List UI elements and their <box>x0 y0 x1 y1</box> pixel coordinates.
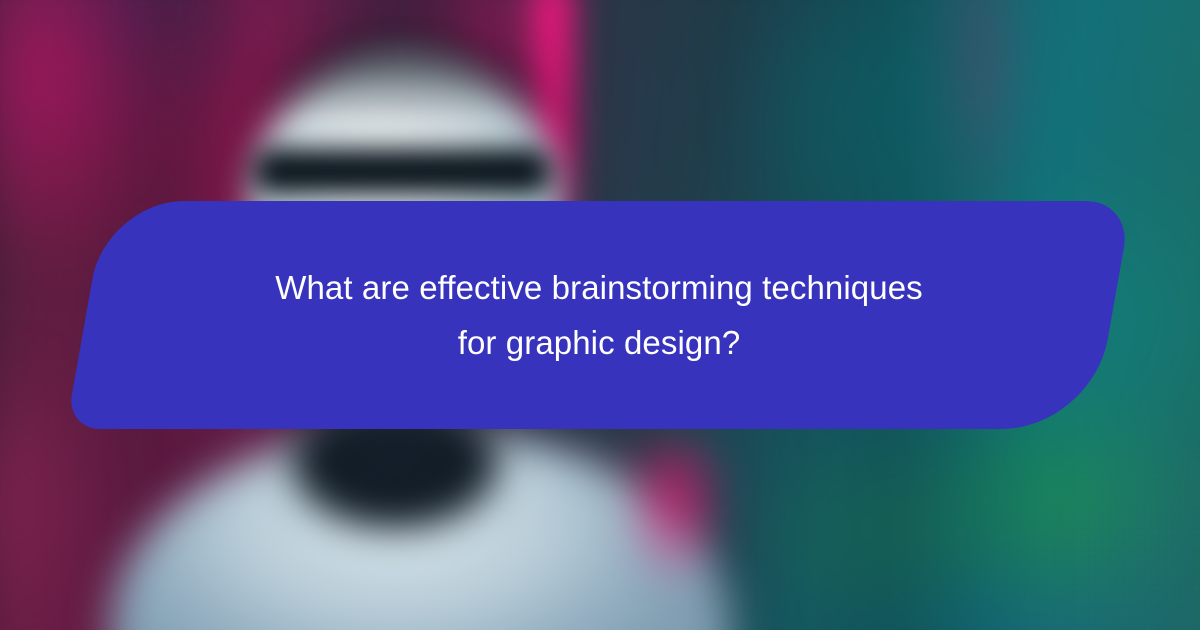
question-card[interactable]: What are effective brainstorming techniq… <box>86 201 1112 429</box>
question-card-content: What are effective brainstorming techniq… <box>86 201 1112 429</box>
social-card-canvas: What are effective brainstorming techniq… <box>0 0 1200 630</box>
question-line-1: What are effective brainstorming techniq… <box>275 263 923 313</box>
question-line-2: for graphic design? <box>458 318 741 368</box>
